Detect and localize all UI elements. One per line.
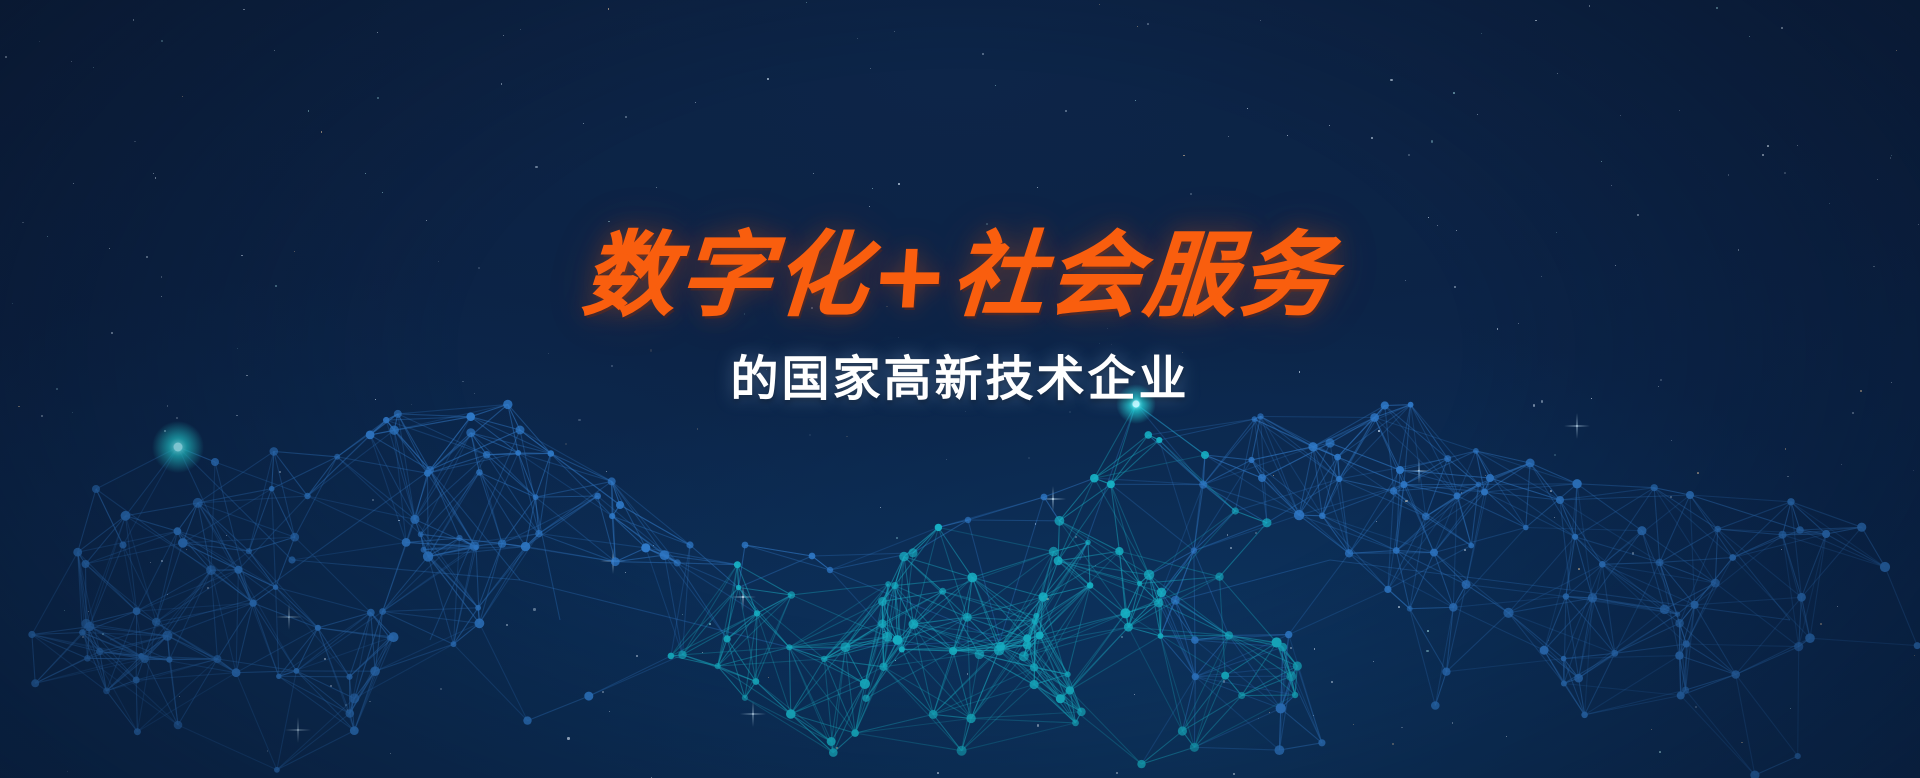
page-subtitle: 的国家高新技术企业 bbox=[0, 339, 1920, 409]
hero-banner: 数字化+社会服务 的国家高新技术企业 bbox=[0, 0, 1920, 778]
page-title: 数字化+社会服务 bbox=[0, 228, 1920, 325]
hero-text-block: 数字化+社会服务 的国家高新技术企业 bbox=[0, 228, 1920, 409]
